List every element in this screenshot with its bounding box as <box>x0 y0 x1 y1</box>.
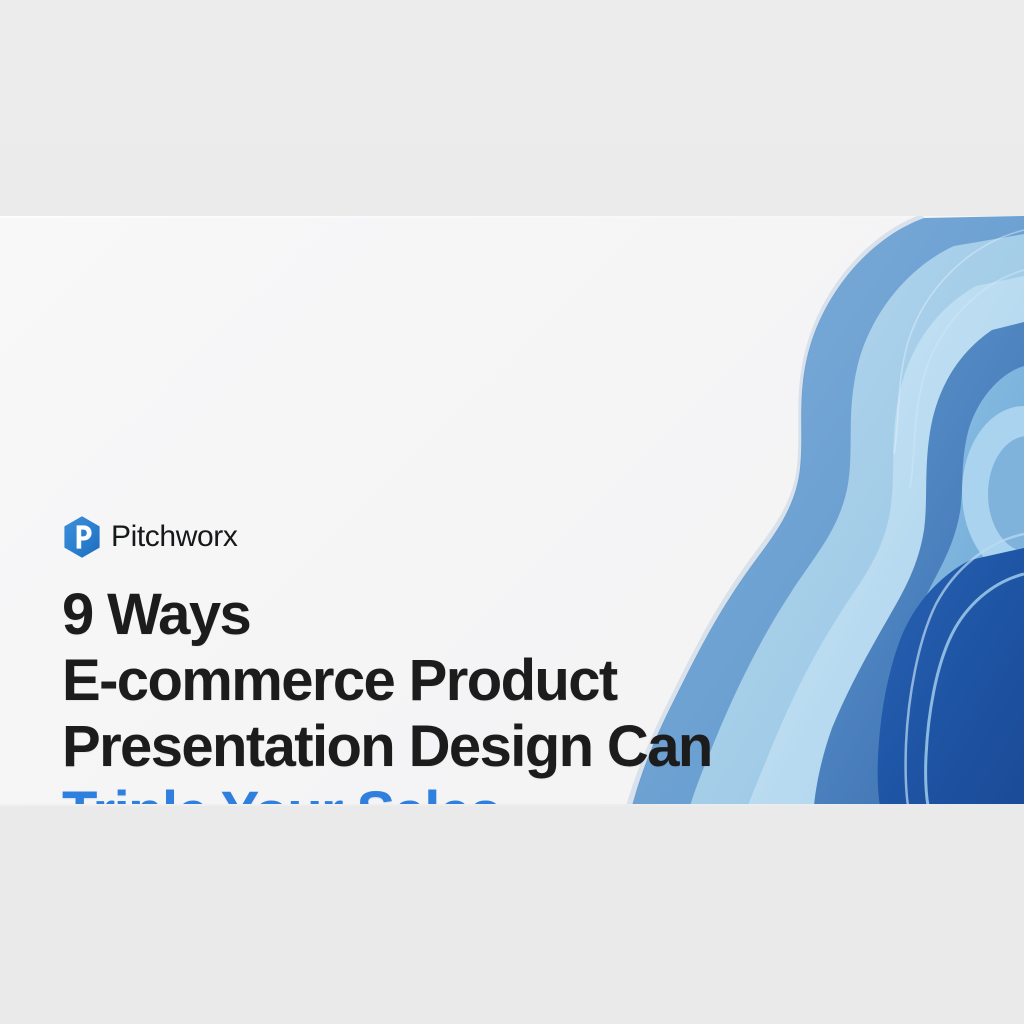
banner-card: Pitchworx 9 Ways E-commerce Product Pres… <box>0 216 1024 806</box>
headline-line-1: 9 Ways <box>62 582 802 648</box>
headline-block: 9 Ways E-commerce Product Presentation D… <box>62 582 802 806</box>
hexagon-p-logo-icon <box>62 515 102 559</box>
headline-line-4-accent: Triple Your Sales <box>62 780 802 806</box>
brand-logo-lockup[interactable]: Pitchworx <box>62 514 237 560</box>
headline-line-3: Presentation Design Can <box>62 714 802 780</box>
screenshot-canvas: Pitchworx 9 Ways E-commerce Product Pres… <box>0 0 1024 1024</box>
headline-line-2: E-commerce Product <box>62 648 802 714</box>
brand-wordmark: Pitchworx <box>111 522 237 552</box>
